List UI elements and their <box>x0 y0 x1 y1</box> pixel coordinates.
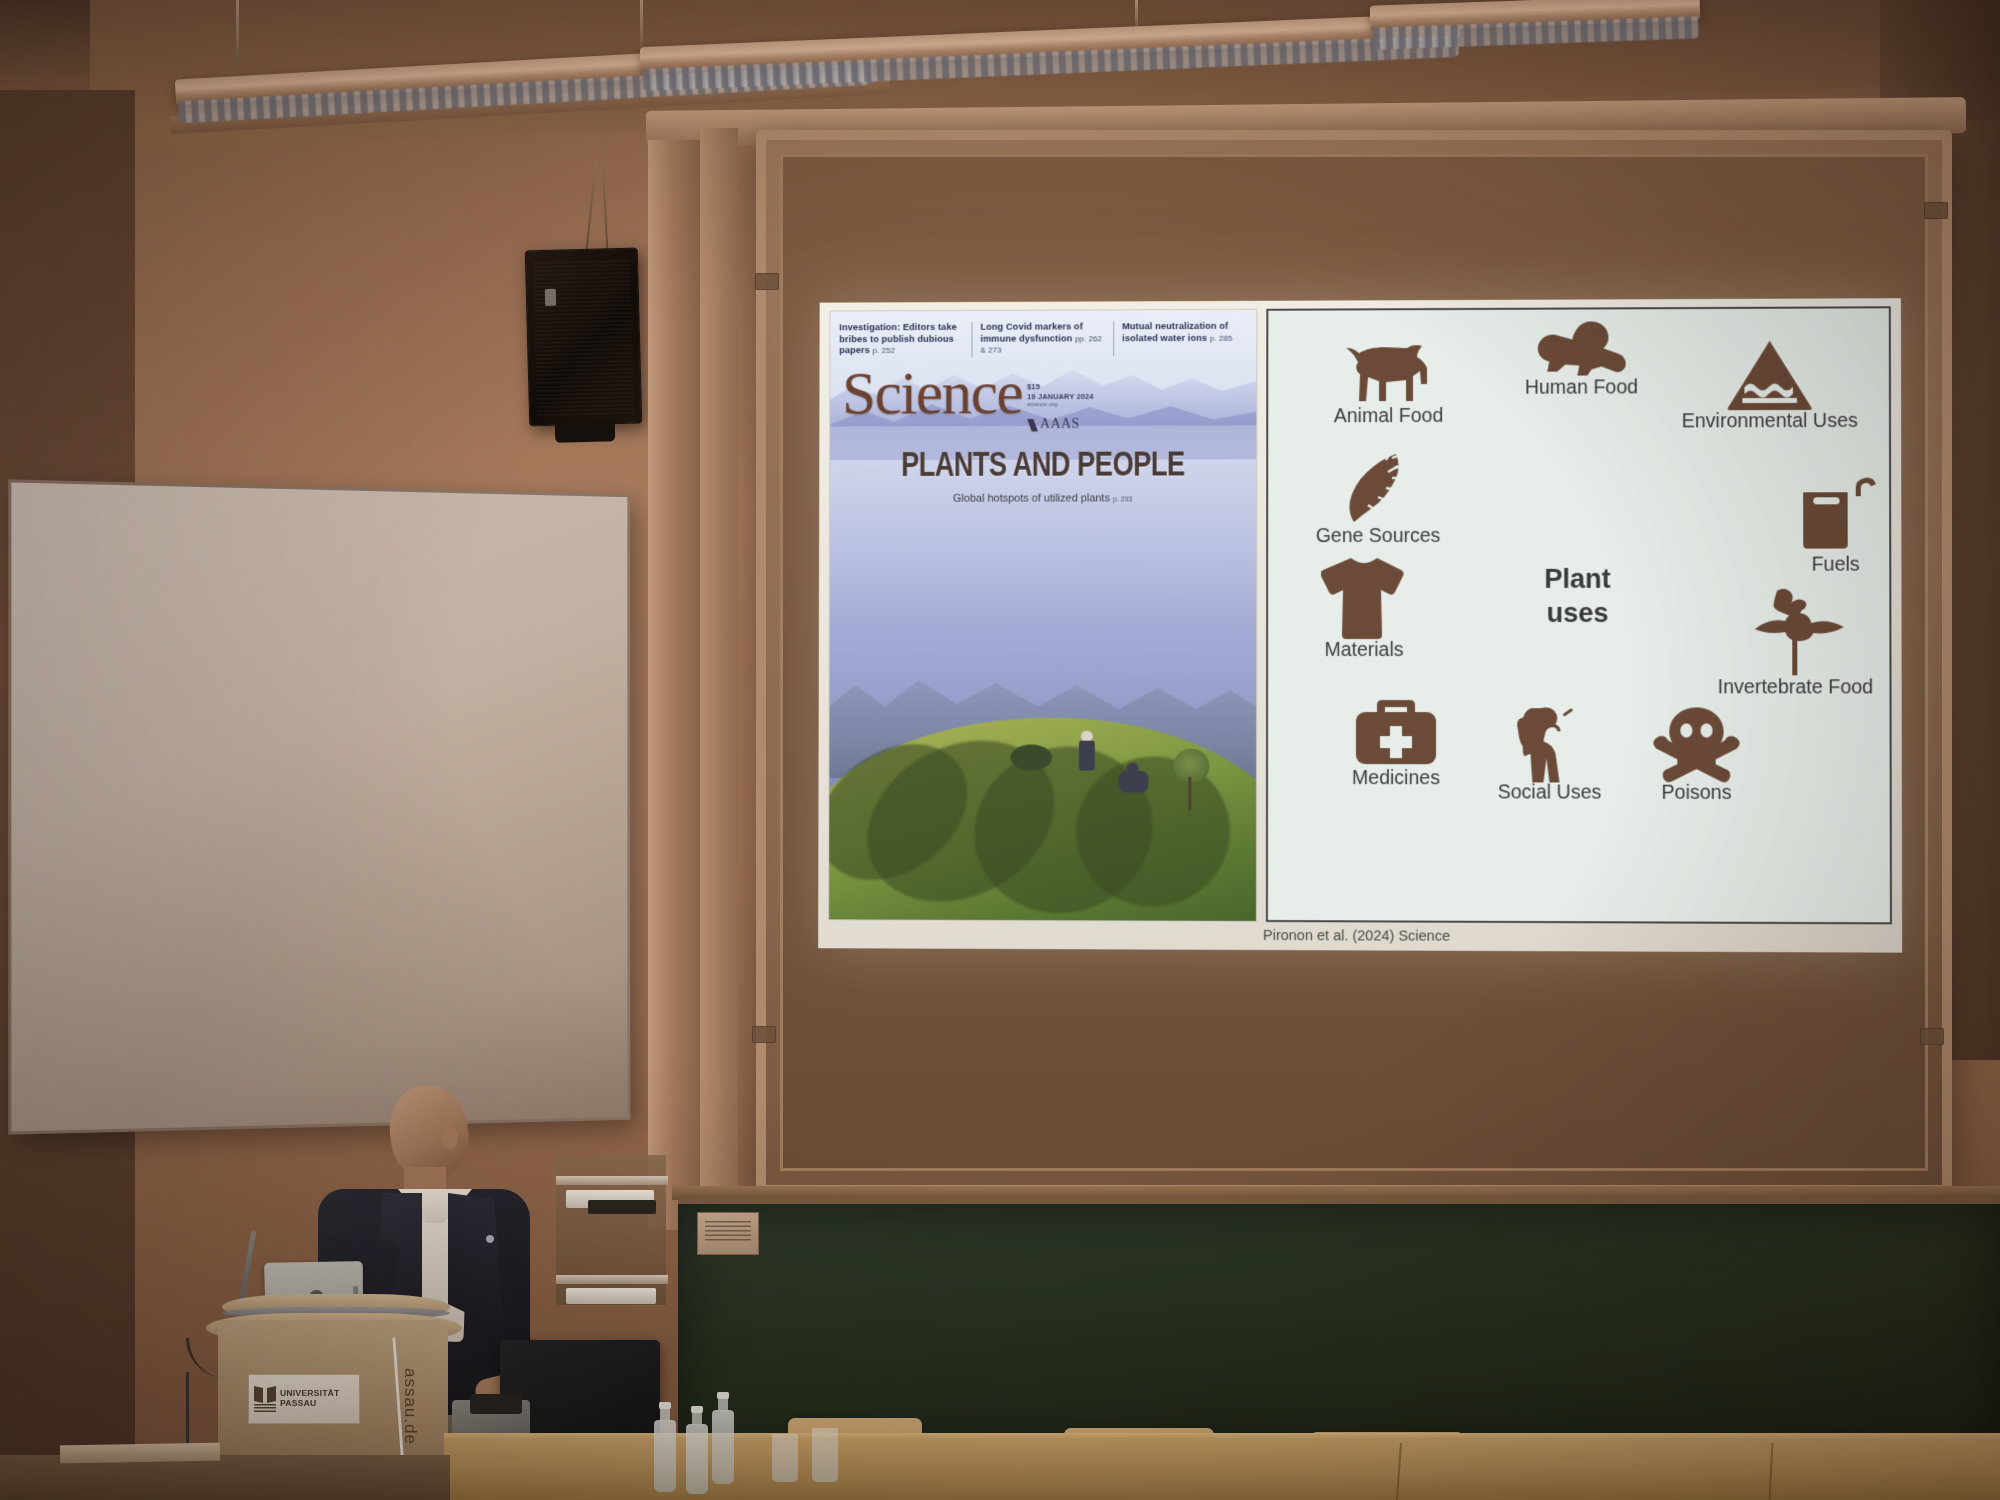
diagram-item-poisons: Poisons <box>1621 706 1772 803</box>
cover-date: 19 JANUARY 2024 <box>1027 392 1094 402</box>
diagram-label-social-uses: Social Uses <box>1464 782 1635 803</box>
first-aid-kit-icon <box>1352 696 1440 768</box>
floor-step <box>60 1443 220 1464</box>
university-name: UNIVERSITÄT PASSAU <box>280 1389 354 1408</box>
cover-headline-1-page: p. 252 <box>873 346 896 355</box>
smoking-person-icon <box>1510 706 1588 782</box>
tshirt-icon <box>1321 554 1407 640</box>
logo-lines <box>254 1404 276 1412</box>
light-hanger <box>236 0 239 66</box>
plant-uses-diagram: Plant uses Animal Food Human Food <box>1266 306 1892 924</box>
cover-title: PLANTS AND PEOPLE <box>841 445 1246 486</box>
cover-headline-2-text: Long Covid markers of immune dysfunction <box>980 321 1082 343</box>
cover-headline-3: Mutual neutralization of isolated water … <box>1122 321 1247 345</box>
skull-crossbones-icon <box>1650 706 1743 783</box>
headline-divider <box>1113 321 1114 356</box>
drinking-glass <box>812 1428 838 1482</box>
diagram-item-social-uses: Social Uses <box>1464 706 1635 803</box>
cover-headline-3-page: p. 285 <box>1210 334 1233 343</box>
diagram-item-human-food: Human Food <box>1486 319 1677 398</box>
cover-subtitle-page: p. 293 <box>1113 497 1132 504</box>
diagram-label-fuels: Fuels <box>1770 555 1902 576</box>
diagram-label-environmental-uses: Environmental Uses <box>1669 411 1871 432</box>
diagram-center-label: Plant uses <box>1544 562 1610 631</box>
cover-headline-row: Investigation: Editors take bribes to pu… <box>830 310 1256 360</box>
tree-canopy <box>1173 749 1209 782</box>
diagram-item-medicines: Medicines <box>1316 696 1476 789</box>
science-magazine-cover: Investigation: Editors take bribes to pu… <box>828 309 1257 922</box>
cover-price: $15 <box>1027 382 1094 392</box>
cover-headline-2: Long Covid markers of immune dysfunction… <box>980 321 1105 356</box>
diagram-label-animal-food: Animal Food <box>1296 406 1481 427</box>
diagram-label-poisons: Poisons <box>1621 783 1772 804</box>
presenter-ear <box>442 1127 458 1149</box>
tree-trunk <box>1188 777 1191 811</box>
lecture-hall-photo: Investigation: Editors take bribes to pu… <box>0 0 2000 1500</box>
diagram-label-human-food: Human Food <box>1486 377 1677 398</box>
cover-farmer <box>1119 763 1149 793</box>
cover-headline-1: Investigation: Editors take bribes to pu… <box>839 322 963 357</box>
wall-loudspeaker <box>525 248 643 427</box>
headline-divider <box>972 322 973 357</box>
water-bottle <box>654 1420 676 1492</box>
diagram-label-gene-sources: Gene Sources <box>1278 526 1478 547</box>
diagram-label-medicines: Medicines <box>1316 768 1476 789</box>
cover-headline-1-text: Investigation: Editors take bribes to pu… <box>839 322 956 356</box>
bee-flower-icon <box>1741 585 1850 678</box>
shelf-object <box>588 1200 656 1214</box>
cover-website: science.org <box>1027 402 1094 408</box>
screen-frame-left-post-2 <box>700 128 738 1233</box>
wall-socket <box>1920 1028 1944 1045</box>
projected-slide: Investigation: Editors take bribes to pu… <box>818 298 1902 952</box>
diagram-label-invertebrate-food: Invertebrate Food <box>1689 677 1901 698</box>
wall-socket <box>1924 202 1948 219</box>
ceiling-light-fixture <box>1370 0 1701 32</box>
water-triangle-icon <box>1726 339 1813 412</box>
cover-title-block: PLANTS AND PEOPLE Global hotspots of uti… <box>830 448 1256 505</box>
university-passau-mark-icon <box>254 1386 276 1412</box>
science-masthead: Science $15 19 JANUARY 2024 science.org … <box>830 359 1256 434</box>
logo-book-right <box>267 1386 276 1403</box>
blackboard-notice-sign <box>697 1212 759 1255</box>
center-label-line2: uses <box>1544 597 1610 632</box>
logo-book-left <box>254 1386 263 1403</box>
cover-bush <box>1010 745 1052 771</box>
diagram-item-invertebrate-food: Invertebrate Food <box>1689 585 1901 698</box>
diagram-label-materials: Materials <box>1284 640 1444 661</box>
front-table <box>444 1438 2000 1500</box>
masthead-wordmark: Science <box>842 365 1022 422</box>
university-logo-plate: UNIVERSITÄT PASSAU <box>248 1374 360 1424</box>
cover-subtitle-line: Global hotspots of utilized plants p. 29… <box>830 492 1256 505</box>
wall-socket <box>755 273 779 290</box>
diagram-item-fuels: Fuels <box>1770 474 1902 575</box>
wall-socket <box>752 1026 776 1043</box>
light-hanger <box>640 0 643 52</box>
speaker-indicator <box>545 289 556 306</box>
speaker-bracket <box>555 419 616 443</box>
center-label-line1: Plant <box>1544 562 1610 597</box>
slide-citation: Pironon et al. (2024) Science <box>828 920 1892 948</box>
shelf-board <box>556 1176 668 1185</box>
cover-subtitle: Global hotspots of utilized plants <box>953 493 1110 505</box>
aaas-logo: AAAS <box>1027 417 1094 433</box>
farmer-body <box>1119 771 1149 793</box>
diagram-item-gene-sources: Gene Sources <box>1278 450 1478 547</box>
cover-tree <box>1170 749 1210 811</box>
aaas-mark-icon <box>1027 419 1038 432</box>
aaas-label: AAAS <box>1040 417 1080 433</box>
farmer-body <box>1079 741 1095 771</box>
whiteboard <box>8 479 630 1134</box>
shelf-board <box>556 1275 668 1284</box>
crawling-baby-icon <box>1535 319 1627 377</box>
screen-frame-left-post <box>648 140 706 1230</box>
water-bottle <box>712 1410 734 1484</box>
cover-photograph <box>829 631 1256 921</box>
presenter-lapel-pin <box>486 1235 494 1243</box>
av-equipment-top <box>470 1394 522 1414</box>
slide-body: Investigation: Editors take bribes to pu… <box>828 306 1892 924</box>
diagram-item-environmental-uses: Environmental Uses <box>1669 338 1871 432</box>
cow-icon <box>1341 344 1437 406</box>
shelf-papers <box>566 1288 656 1304</box>
diagram-item-materials: Materials <box>1284 554 1444 661</box>
water-bottle <box>686 1424 708 1494</box>
masthead-meta: $15 19 JANUARY 2024 science.org AAAS <box>1027 365 1094 433</box>
wheat-ear-icon <box>1338 450 1418 526</box>
cover-farmer <box>1077 731 1097 771</box>
diagram-item-animal-food: Animal Food <box>1296 344 1481 427</box>
fuel-can-icon <box>1793 474 1878 555</box>
drinking-glass <box>772 1434 798 1482</box>
